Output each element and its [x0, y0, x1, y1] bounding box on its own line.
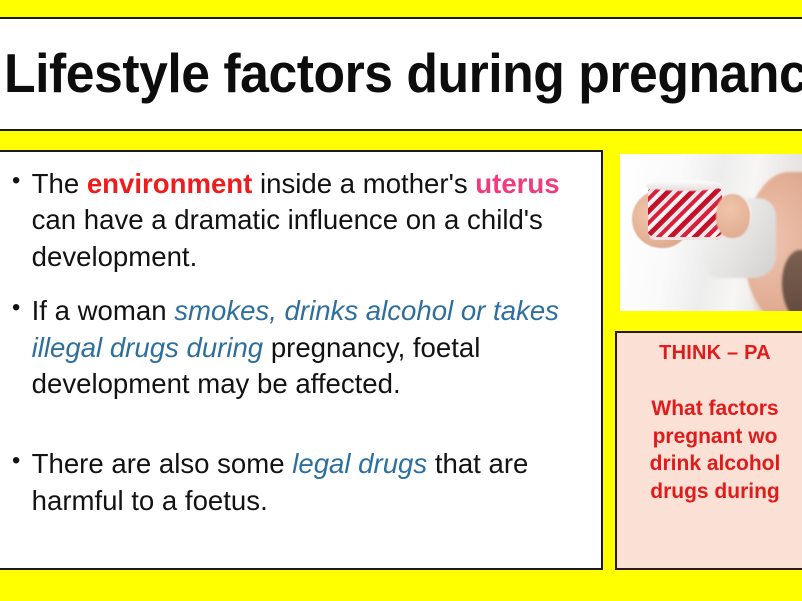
slide-body-panel: The environment inside a mother's uterus… — [0, 150, 603, 570]
think-heading: THINK – PA — [617, 342, 802, 365]
think-question-line: pregnant wo — [617, 423, 802, 451]
keyword-uterus: uterus — [475, 168, 559, 199]
presentation-slide: Lifestyle factors during pregnanc The en… — [0, 0, 802, 601]
photo-fingers-shape — [716, 194, 750, 238]
pregnancy-mug-photo — [620, 154, 802, 311]
think-question: What factors pregnant wo drink alcohol d… — [617, 395, 802, 506]
page-title: Lifestyle factors during pregnanc — [4, 45, 802, 103]
bullet-text-part: can have a dramatic influence on a child… — [32, 204, 543, 271]
bullet-text-part: The — [32, 168, 87, 199]
bullet-text-part: If a woman — [32, 295, 175, 326]
bullet-text-part: inside a mother's — [252, 168, 475, 199]
think-question-line: drink alcohol — [617, 450, 802, 478]
list-item: If a woman smokes, drinks alcohol or tak… — [8, 293, 584, 402]
keyword-environment: environment — [87, 168, 253, 199]
list-item: There are also some legal drugs that are… — [8, 446, 584, 519]
bullet-text-part: There are also some — [32, 448, 293, 479]
think-question-line: drugs during — [617, 478, 802, 506]
bullet-list: The environment inside a mother's uterus… — [0, 152, 601, 519]
slide-title-bar: Lifestyle factors during pregnanc — [0, 17, 802, 131]
think-pair-share-panel: THINK – PA What factors pregnant wo drin… — [615, 331, 802, 570]
photo-mug-rim — [646, 180, 724, 191]
keyword-legal-drugs: legal drugs — [292, 448, 427, 479]
list-item: The environment inside a mother's uterus… — [8, 166, 584, 275]
photo-mug — [648, 184, 722, 240]
think-question-line: What factors — [617, 395, 802, 423]
